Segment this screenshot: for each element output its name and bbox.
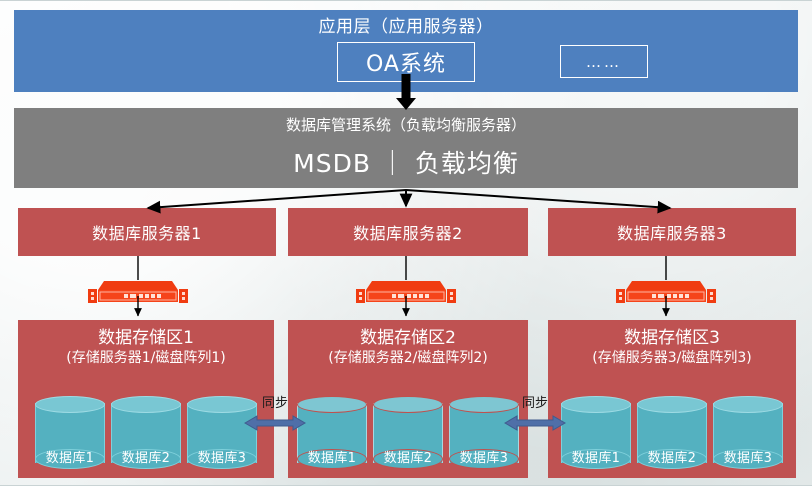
storage-zone-title-3: 数据存储区3 [624,328,720,349]
database-cylinder-group-1: 数据库1 数据库2 数据库3 [18,394,274,470]
database-label: 数据库2 [637,447,707,466]
more-systems-box[interactable]: …… [560,45,648,78]
sync-double-arrow-icon-2-3 [503,414,567,432]
db-server-label-1: 数据库服务器1 [92,220,202,244]
cylinder-top [297,396,367,413]
database-cylinder-group-3: 数据库1 数据库2 数据库3 [548,394,796,470]
database-cylinder-group-2: 数据库1 数据库2 数据库3 [288,394,528,470]
cylinder-top [35,396,105,413]
storage-zone-subtitle-1: (存储服务器1/磁盘阵列1) [66,349,225,368]
cylinder-top [561,396,631,413]
storage-zone-1[interactable]: 数据存储区1 (存储服务器1/磁盘阵列1) 数据库1 数据库2 数据库3 [18,320,274,478]
database-cylinder[interactable]: 数据库2 [637,396,707,470]
db-server-box-3[interactable]: 数据库服务器3 [548,208,796,256]
database-cylinder[interactable]: 数据库1 [297,396,367,470]
sync-connector-2-3: 同步 [503,392,567,442]
storage-zone-title-1: 数据存储区1 [98,328,194,349]
storage-zone-title-2: 数据存储区2 [360,328,456,349]
database-label: 数据库3 [713,447,783,466]
cylinder-top [713,396,783,413]
database-cylinder[interactable]: 数据库2 [373,396,443,470]
dbms-layer-title: 数据库管理系统（负载均衡服务器） [286,114,526,136]
sync-label-1-2: 同步 [243,392,307,411]
sync-label-2-3: 同步 [503,392,567,411]
database-label: 数据库3 [449,447,519,466]
rack-server-icon-3 [612,277,720,307]
db-server-label-2: 数据库服务器2 [353,220,463,244]
dbms-layer-band: 数据库管理系统（负载均衡服务器） MSDB ｜ 负载均衡 [14,108,798,188]
database-cylinder[interactable]: 数据库3 [713,396,783,470]
cylinder-top [373,396,443,413]
dbms-layer-subtitle: MSDB ｜ 负载均衡 [293,144,519,180]
database-cylinder[interactable]: 数据库1 [35,396,105,470]
more-systems-label: …… [586,53,622,71]
cylinder-top [111,396,181,413]
oa-system-label: OA系统 [366,46,446,78]
cylinder-top [637,396,707,413]
db-server-box-1[interactable]: 数据库服务器1 [18,208,276,256]
architecture-diagram-canvas: 应用层（应用服务器） OA系统 …… 数据库管理系统（负载均衡服务器） MSDB… [0,0,812,486]
database-label: 数据库1 [35,447,105,466]
database-label: 数据库2 [373,447,443,466]
storage-zone-subtitle-3: (存储服务器3/磁盘阵列3) [592,349,751,368]
rack-server-icon-1 [84,277,192,307]
storage-zone-3[interactable]: 数据存储区3 (存储服务器3/磁盘阵列3) 数据库1 数据库2 数据库3 [548,320,796,478]
frame-top-line [0,0,812,1]
application-systems-group: OA系统 …… [14,42,798,82]
rack-server-icon-2 [352,277,460,307]
sync-connector-1-2: 同步 [243,392,307,442]
storage-zone-2[interactable]: 数据存储区2 (存储服务器2/磁盘阵列2) 数据库1 数据库2 数据库3 [288,320,528,478]
arrow-dbms-to-db-servers [148,190,670,208]
database-label: 数据库2 [111,447,181,466]
database-label: 数据库1 [297,447,367,466]
application-layer-title: 应用层（应用服务器） [319,15,494,39]
sync-double-arrow-icon-1-2 [243,414,307,432]
db-server-label-3: 数据库服务器3 [617,220,727,244]
storage-zone-subtitle-2: (存储服务器2/磁盘阵列2) [328,349,487,368]
database-cylinder[interactable]: 数据库2 [111,396,181,470]
database-label: 数据库3 [187,447,257,466]
oa-system-box[interactable]: OA系统 [337,42,475,82]
application-layer-band: 应用层（应用服务器） OA系统 …… [14,10,798,92]
database-label: 数据库1 [561,447,631,466]
db-server-box-2[interactable]: 数据库服务器2 [288,208,528,256]
database-cylinder[interactable]: 数据库1 [561,396,631,470]
